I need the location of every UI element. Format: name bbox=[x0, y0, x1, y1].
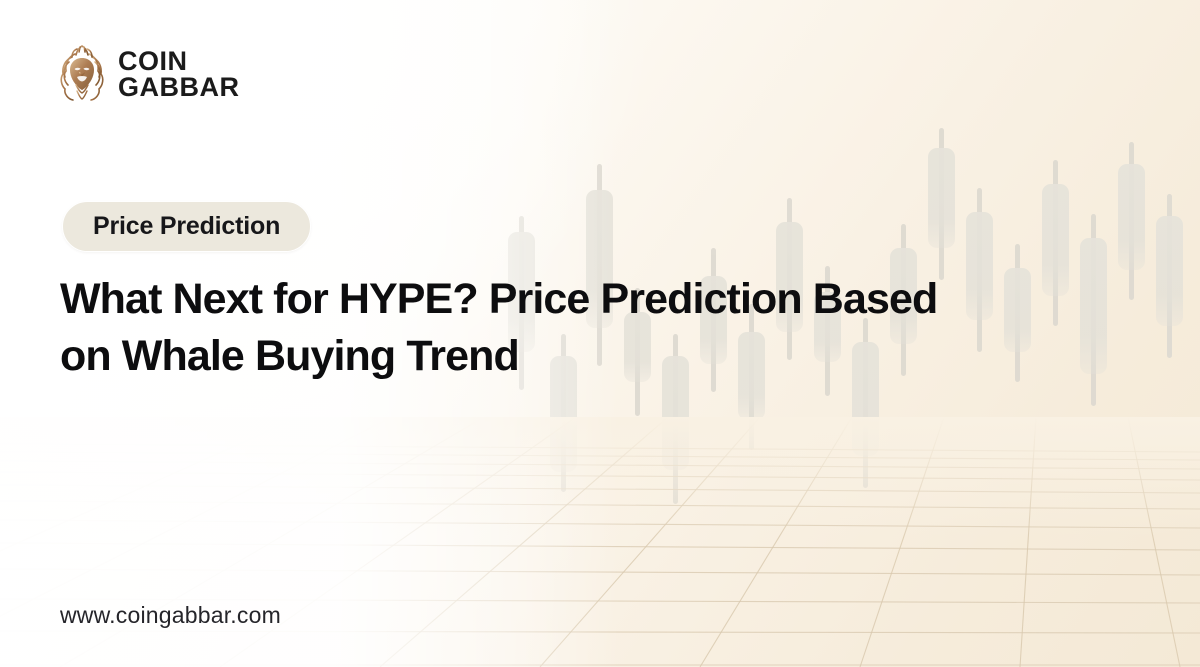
site-url[interactable]: www.coingabbar.com bbox=[60, 602, 281, 629]
lion-head-icon bbox=[56, 44, 108, 106]
headline-line-1: What Next for HYPE? Price Prediction Bas… bbox=[60, 271, 1130, 328]
floor-horizon-fade bbox=[0, 417, 1200, 537]
headline-line-2: on Whale Buying Trend bbox=[60, 328, 1130, 385]
logo-wordmark: COIN GABBAR bbox=[118, 49, 240, 100]
category-badge[interactable]: Price Prediction bbox=[62, 201, 311, 252]
price-prediction-banner: COIN GABBAR Price Prediction What Next f… bbox=[0, 0, 1200, 667]
category-badge-label: Price Prediction bbox=[93, 212, 280, 241]
page-title: What Next for HYPE? Price Prediction Bas… bbox=[60, 271, 1130, 385]
coingabbar-logo[interactable]: COIN GABBAR bbox=[56, 44, 240, 106]
perspective-grid-floor bbox=[0, 417, 1200, 667]
logo-word-gabbar: GABBAR bbox=[118, 75, 240, 101]
